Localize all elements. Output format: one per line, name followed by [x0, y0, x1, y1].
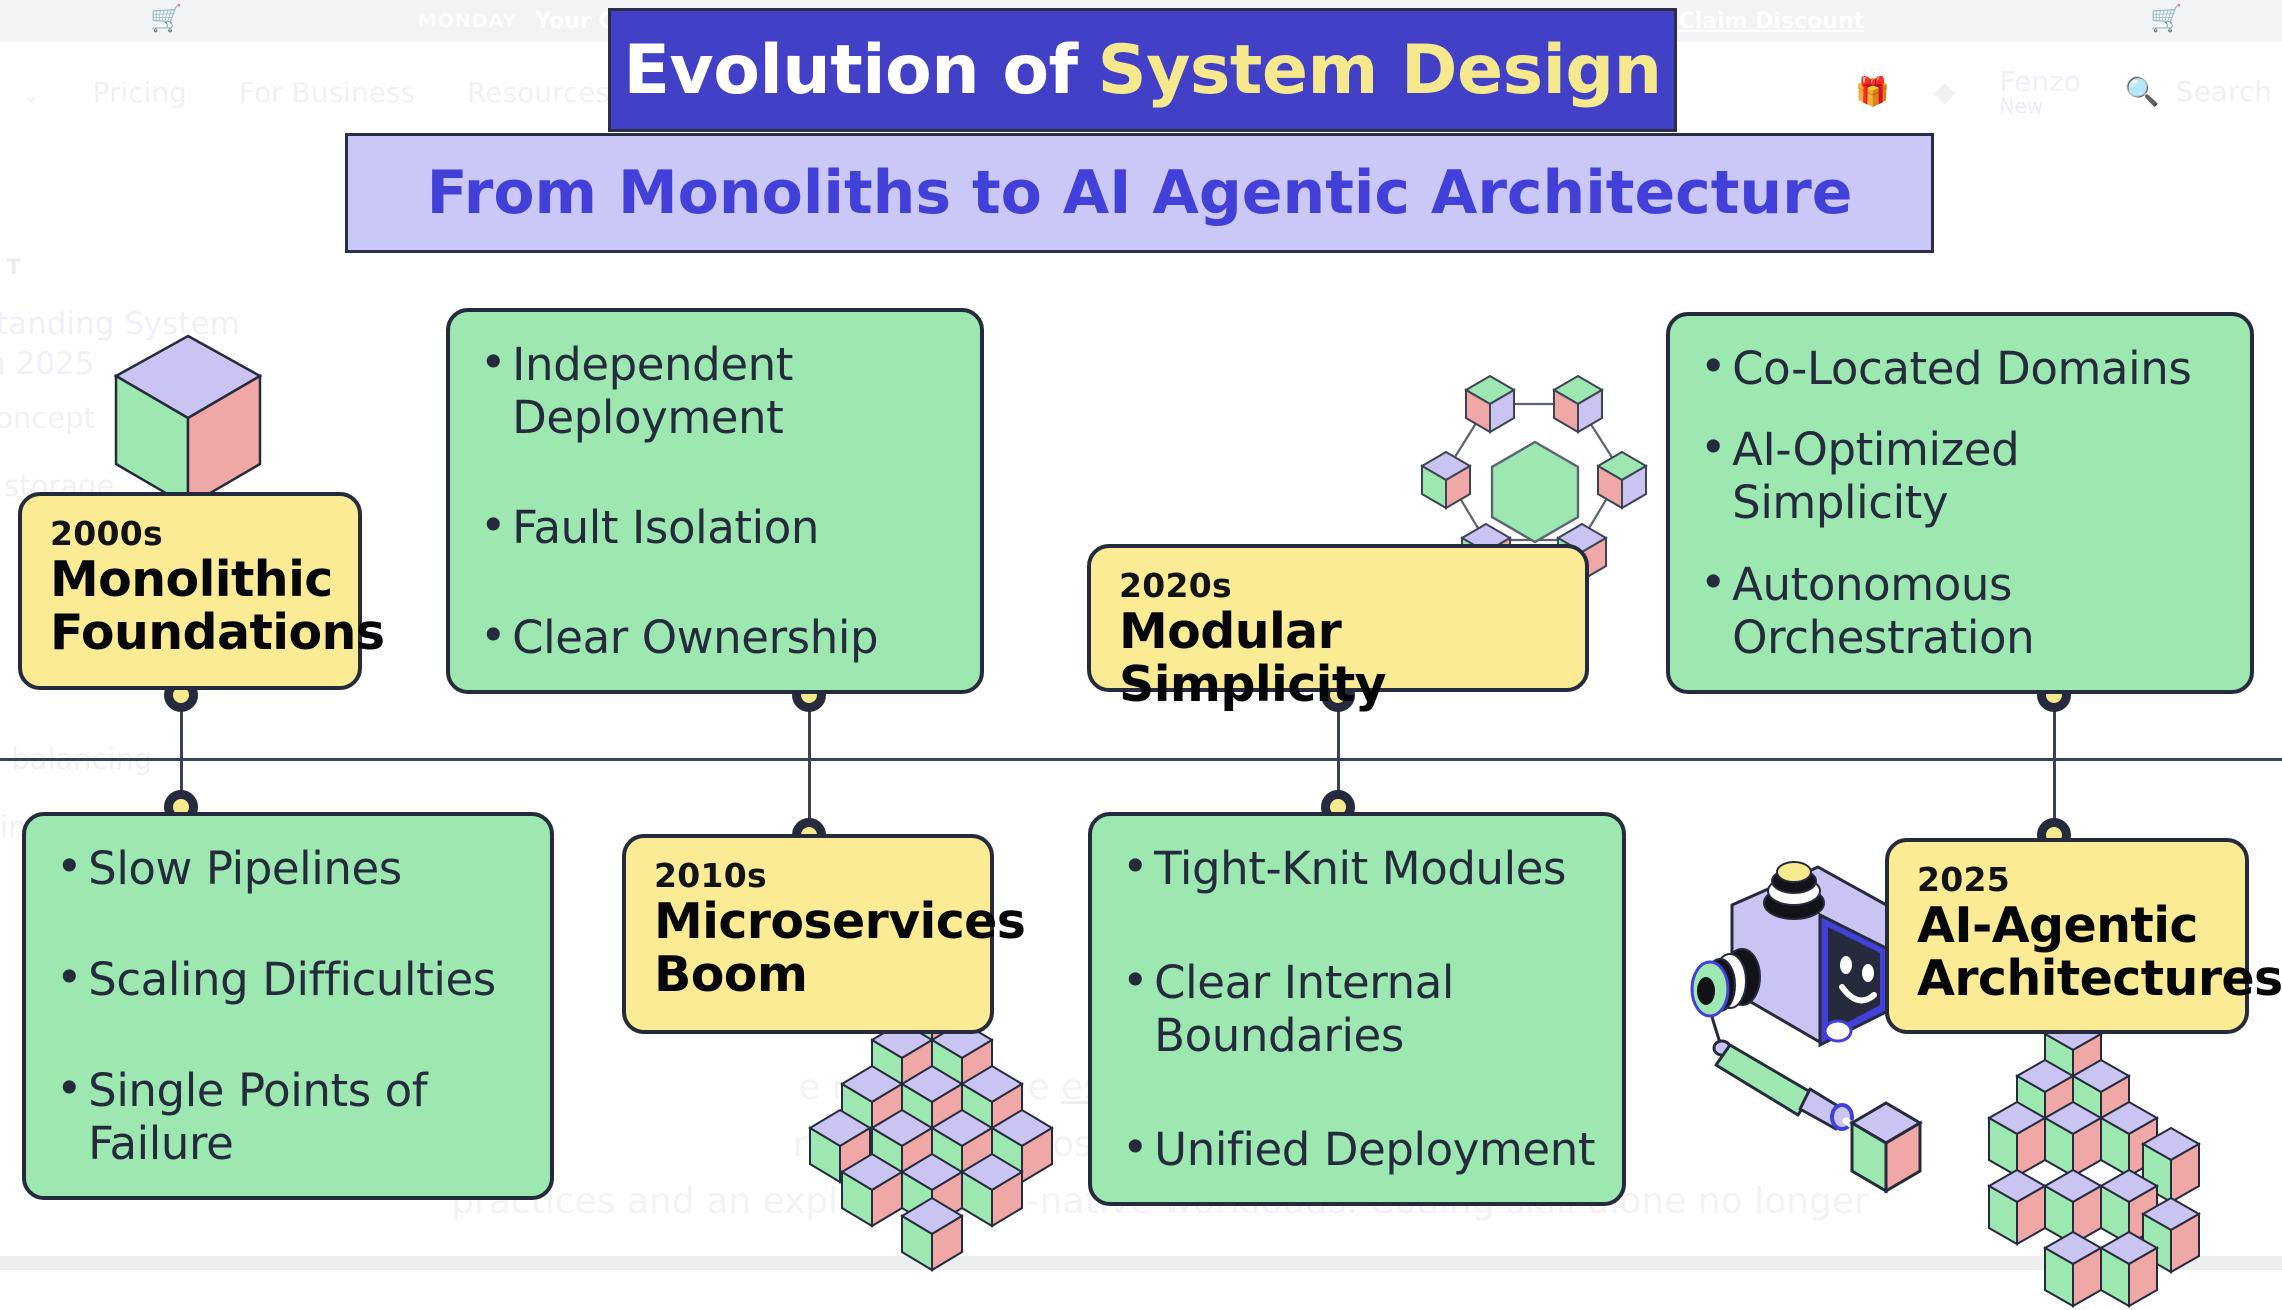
bullet-dot: •: [1700, 558, 1726, 608]
bullet-text: Unified Deployment: [1154, 1123, 1604, 1176]
bullet-item: • Single Points of Failure: [56, 1064, 532, 1170]
connector-stem: [2053, 694, 2056, 834]
bullet-text: Tight-Knit Modules: [1154, 842, 1604, 895]
bullet-list: • Co-Located Domains • AI-Optimized Simp…: [1700, 342, 2232, 664]
bullet-dot: •: [480, 338, 506, 388]
bullet-list: • Independent Deployment • Fault Isolati…: [480, 338, 962, 664]
bullet-card-monolith-drawbacks[interactable]: • Slow Pipelines • Scaling Difficulties …: [22, 812, 554, 1200]
bullet-item: • Clear Ownership: [480, 611, 962, 664]
connector-stem: [808, 694, 811, 834]
cube-stack-icon: [1975, 1010, 2235, 1310]
era-card-2020s[interactable]: 2020s Modular Simplicity: [1087, 544, 1589, 692]
bullet-item: • Autonomous Orchestration: [1700, 558, 2232, 664]
era-card-2010s[interactable]: 2010s Microservices Boom: [622, 834, 994, 1034]
bullet-item: • Co-Located Domains: [1700, 342, 2232, 395]
bullet-text: Clear Internal Boundaries: [1154, 956, 1604, 1062]
bullet-list: • Slow Pipelines • Scaling Difficulties …: [56, 842, 532, 1170]
title-highlight: System Design: [1098, 31, 1662, 110]
era-title: Monolithic Foundations: [50, 554, 342, 660]
bullet-text: Fault Isolation: [512, 501, 962, 554]
era-label: 2000s: [50, 514, 163, 553]
bullet-text: Single Points of Failure: [88, 1064, 532, 1170]
bullet-text: Co-Located Domains: [1732, 342, 2232, 395]
infographic-title: Evolution of System Design: [608, 8, 1677, 132]
timeline-axis: [0, 758, 2282, 761]
bullet-dot: •: [56, 842, 82, 892]
era-card-2025[interactable]: 2025 AI-Agentic Architectures: [1885, 838, 2249, 1034]
infographic-overlay: Evolution of System Design From Monolith…: [0, 0, 2282, 1270]
bullet-text: Clear Ownership: [512, 611, 962, 664]
era-title: Microservices Boom: [654, 896, 974, 1002]
era-title: AI-Agentic Architectures: [1917, 900, 2229, 1006]
title-prefix: Evolution of: [623, 31, 1077, 110]
era-card-2000s[interactable]: 2000s Monolithic Foundations: [18, 492, 362, 690]
bullet-dot: •: [56, 1064, 82, 1114]
bullet-item: • AI-Optimized Simplicity: [1700, 423, 2232, 529]
bullet-text: Slow Pipelines: [88, 842, 532, 895]
era-label: 2010s: [654, 856, 767, 895]
bullet-text: Scaling Difficulties: [88, 953, 532, 1006]
bullet-dot: •: [1700, 423, 1726, 473]
bullet-dot: •: [1700, 342, 1726, 392]
bullet-item: • Fault Isolation: [480, 501, 962, 554]
bullet-dot: •: [1122, 842, 1148, 892]
bullet-text: Autonomous Orchestration: [1732, 558, 2232, 664]
era-title: Modular Simplicity: [1119, 606, 1569, 712]
bullet-dot: •: [1122, 956, 1148, 1006]
bullet-card-microservices-benefits[interactable]: • Independent Deployment • Fault Isolati…: [446, 308, 984, 694]
era-label: 2025: [1917, 860, 2010, 899]
bullet-item: • Independent Deployment: [480, 338, 962, 444]
bullet-dot: •: [480, 501, 506, 551]
bullet-dot: •: [480, 611, 506, 661]
infographic-subtitle: From Monoliths to AI Agentic Architectur…: [345, 133, 1934, 253]
bullet-card-modular-traits[interactable]: • Tight-Knit Modules • Clear Internal Bo…: [1088, 812, 1626, 1206]
era-label: 2020s: [1119, 566, 1232, 605]
bullet-text: Independent Deployment: [512, 338, 962, 444]
bullet-item: • Unified Deployment: [1122, 1123, 1604, 1176]
bullet-item: • Tight-Knit Modules: [1122, 842, 1604, 895]
bullet-item: • Slow Pipelines: [56, 842, 532, 895]
bullet-text: AI-Optimized Simplicity: [1732, 423, 2232, 529]
bullet-dot: •: [56, 953, 82, 1003]
bullet-item: • Clear Internal Boundaries: [1122, 956, 1604, 1062]
bullet-dot: •: [1122, 1123, 1148, 1173]
bullet-item: • Scaling Difficulties: [56, 953, 532, 1006]
bullet-list: • Tight-Knit Modules • Clear Internal Bo…: [1122, 842, 1604, 1176]
bullet-card-ai-agentic-traits[interactable]: • Co-Located Domains • AI-Optimized Simp…: [1666, 312, 2254, 694]
